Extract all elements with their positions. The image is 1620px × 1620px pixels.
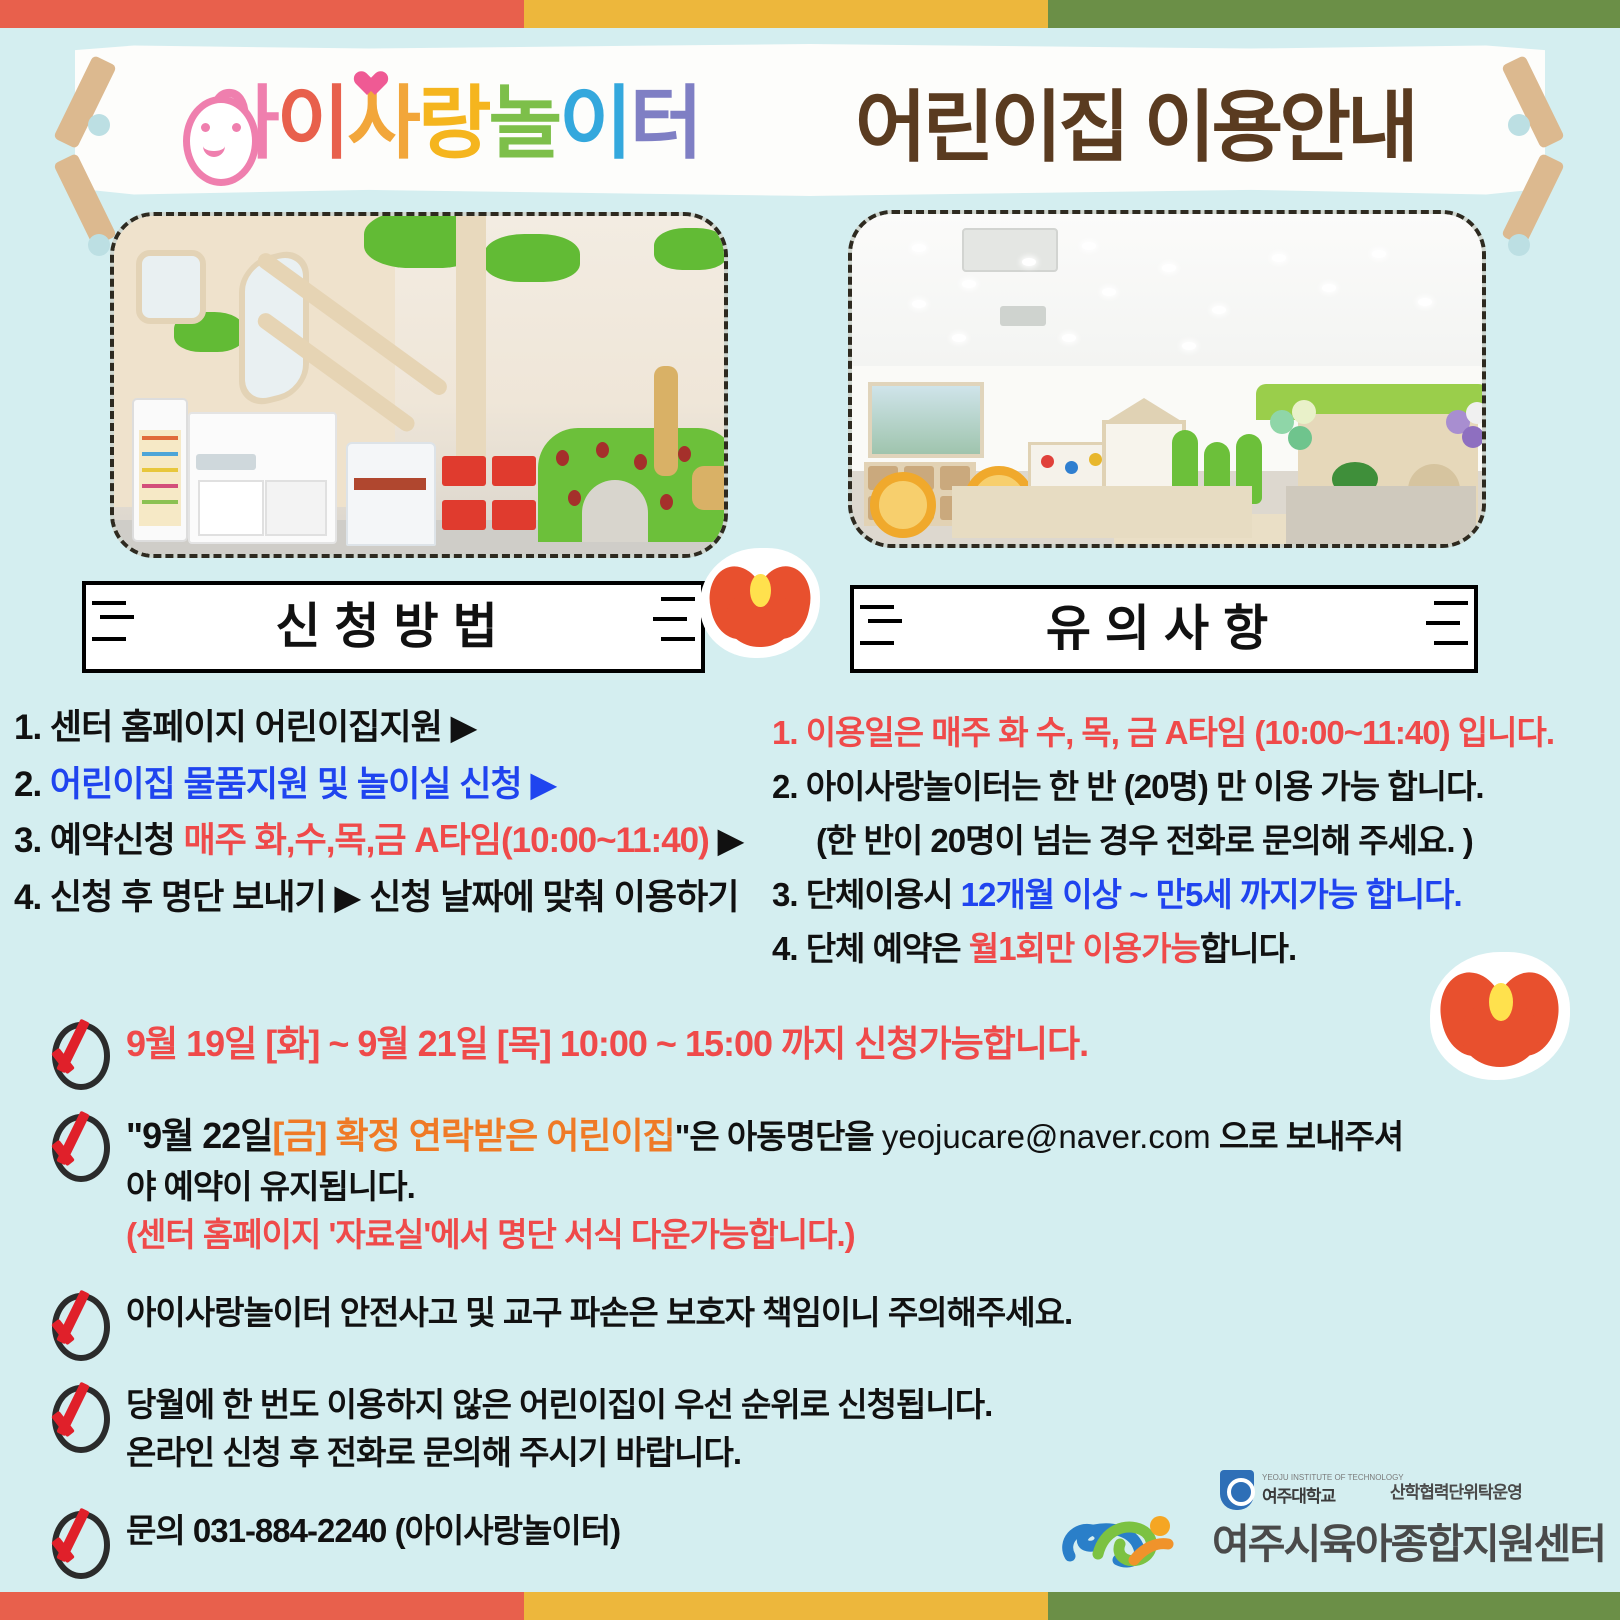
text-fragment: "은 아동명단을 bbox=[675, 1118, 882, 1155]
checklist-text: 9월 19일 [화] ~ 9월 21일 [목] 10:00 ~ 15:00 까지… bbox=[126, 1018, 1600, 1071]
banner-area: 아이사랑놀이터 어린이집 이용안내 bbox=[0, 28, 1620, 213]
text-fragment: 으로 보내주셔 bbox=[1211, 1118, 1404, 1155]
checklist-line: 9월 19일 [화] ~ 9월 21일 [목] 10:00 ~ 15:00 까지… bbox=[126, 1018, 1600, 1071]
step-number: 4. bbox=[14, 878, 41, 917]
partner-label: 산학협력단위탁운영 bbox=[1390, 1478, 1522, 1503]
notice-number: 3. bbox=[772, 876, 798, 913]
playground-logo: 아이사랑놀이터 bbox=[180, 84, 700, 164]
checklist-text: 아이사랑놀이터 안전사고 및 교구 파손은 보호자 책임이니 주의해주세요. bbox=[126, 1289, 1600, 1337]
text-fragment: 이용일은 매주 화 수, 목, 금 A타임 (10:00~11:40) 입니다. bbox=[798, 714, 1555, 751]
logo-char-nol: 놀 bbox=[488, 84, 559, 164]
banner-grommet bbox=[88, 234, 110, 256]
notice-item: 1. 이용일은 매주 화 수, 목, 금 A타임 (10:00~11:40) 입… bbox=[772, 706, 1620, 760]
check-mark-icon bbox=[40, 1289, 126, 1351]
photo-playroom-right bbox=[848, 210, 1486, 548]
text-fragment: 9월 19일 [화] ~ 9월 21일 [목] 10:00 ~ 15:00 까지… bbox=[126, 1023, 1088, 1064]
university-mark: YEOJU INSTITUTE OF TECHNOLOGY 여주대학교 bbox=[1220, 1470, 1404, 1510]
text-fragment: (센터 홈페이지 '자료실'에서 명단 서식 다운가능합니다.) bbox=[126, 1216, 855, 1253]
checklist-row: 당월에 한 번도 이용하지 않은 어린이집이 우선 순위로 신청됩니다.온라인 … bbox=[40, 1381, 1600, 1477]
banner-grommet bbox=[88, 114, 110, 136]
notice-number: 1. bbox=[772, 714, 798, 751]
text-fragment: 아이사랑놀이터 안전사고 및 교구 파손은 보호자 책임이니 주의해주세요. bbox=[126, 1294, 1072, 1331]
text-fragment: (한 반이 20명이 넘는 경우 전화로 문의해 주세요. ) bbox=[816, 822, 1473, 859]
notice-number: 2. bbox=[772, 768, 798, 805]
check-mark-icon bbox=[40, 1018, 126, 1080]
application-step: 3. 예약신청 매주 화,수,목,금 A타임(10:00~11:40) ▶ bbox=[14, 813, 774, 870]
check-mark-icon bbox=[40, 1507, 126, 1569]
text-fragment: 센터 홈페이지 어린이집지원 bbox=[41, 708, 442, 747]
heart-icon bbox=[360, 72, 388, 100]
text-fragment: "9월 22일 bbox=[126, 1115, 272, 1156]
banner-grommet bbox=[1508, 114, 1530, 136]
step-number: 1. bbox=[14, 708, 41, 747]
logo-char-rang: 랑 bbox=[418, 84, 489, 164]
photo-playroom-left bbox=[110, 212, 728, 558]
text-fragment: 매주 화,수,목,금 A타임(10:00~11:40) bbox=[183, 821, 708, 860]
checklist-line: "9월 22일[금] 확정 연락받은 어린이집"은 아동명단을 yeojucar… bbox=[126, 1110, 1600, 1163]
checklist-line: 당월에 한 번도 이용하지 않은 어린이집이 우선 순위로 신청됩니다. bbox=[126, 1381, 1600, 1429]
text-fragment: 온라인 신청 후 전화로 문의해 주시기 바랍니다. bbox=[126, 1434, 741, 1471]
logo-char-i: 이 bbox=[277, 84, 348, 164]
bar-segment-red bbox=[0, 0, 524, 28]
logo-char-i2: 이 bbox=[559, 84, 630, 164]
checklist-text: 당월에 한 번도 이용하지 않은 어린이집이 우선 순위로 신청됩니다.온라인 … bbox=[126, 1381, 1600, 1477]
bar-segment-green bbox=[1048, 1592, 1620, 1620]
text-fragment: 단체 예약은 bbox=[798, 930, 969, 967]
notice-item: 3. 단체이용시 12개월 이상 ~ 만5세 까지가능 합니다. bbox=[772, 868, 1620, 922]
text-fragment: 예약신청 bbox=[41, 821, 183, 860]
flower-decoration-icon bbox=[700, 548, 820, 658]
text-fragment: 어린이집 물품지원 및 놀이실 신청 bbox=[41, 765, 521, 804]
bar-segment-yellow bbox=[524, 0, 1048, 28]
checklist-row: 아이사랑놀이터 안전사고 및 교구 파손은 보호자 책임이니 주의해주세요. bbox=[40, 1289, 1600, 1351]
text-fragment: 신청 후 명단 보내기 ▶ 신청 날짜에 맞춰 이용하기 bbox=[41, 878, 738, 917]
notice-item: (한 반이 20명이 넘는 경우 전화로 문의해 주세요. ) bbox=[772, 814, 1620, 868]
checklist-line: 야 예약이 유지됩니다. bbox=[126, 1163, 1600, 1211]
footer-organization-logo: YEOJU INSTITUTE OF TECHNOLOGY 여주대학교 산학협력… bbox=[1060, 1468, 1600, 1578]
step-number: 3. bbox=[14, 821, 41, 860]
text-fragment: ▶ bbox=[522, 765, 557, 804]
step-number: 2. bbox=[14, 765, 41, 804]
text-fragment: yeojucare@naver.com bbox=[882, 1118, 1211, 1155]
flower-decoration-icon bbox=[1430, 952, 1570, 1080]
bottom-color-bar bbox=[0, 1592, 1620, 1620]
text-fragment: ▶ bbox=[709, 821, 744, 860]
check-mark-icon bbox=[40, 1110, 126, 1172]
bar-segment-red bbox=[0, 1592, 524, 1620]
section-header-notices: 유의사항 bbox=[850, 585, 1478, 673]
notice-number: 4. bbox=[772, 930, 798, 967]
university-name: 여주대학교 bbox=[1262, 1487, 1335, 1506]
top-color-bar bbox=[0, 0, 1620, 28]
checklist-row: "9월 22일[금] 확정 연락받은 어린이집"은 아동명단을 yeojucar… bbox=[40, 1110, 1600, 1259]
section-title-text: 유의사항 bbox=[1046, 605, 1282, 654]
notice-item: 2. 아이사랑놀이터는 한 반 (20명) 만 이용 가능 합니다. bbox=[772, 760, 1620, 814]
bar-segment-green bbox=[1048, 0, 1620, 28]
poster-page: 아이사랑놀이터 어린이집 이용안내 bbox=[0, 0, 1620, 1620]
banner-grommet bbox=[1508, 234, 1530, 256]
center-name: 여주시육아종합지원센터 bbox=[1212, 1510, 1605, 1570]
checklist-text: "9월 22일[금] 확정 연락받은 어린이집"은 아동명단을 yeojucar… bbox=[126, 1110, 1600, 1259]
notices-list: 1. 이용일은 매주 화 수, 목, 금 A타임 (10:00~11:40) 입… bbox=[772, 706, 1620, 977]
checklist-line: 아이사랑놀이터 안전사고 및 교구 파손은 보호자 책임이니 주의해주세요. bbox=[126, 1289, 1600, 1337]
smiley-face-icon bbox=[183, 96, 259, 186]
application-step: 4. 신청 후 명단 보내기 ▶ 신청 날짜에 맞춰 이용하기 bbox=[14, 870, 774, 927]
university-shield-icon bbox=[1220, 1470, 1254, 1510]
section-header-application-method: 신청방법 bbox=[82, 581, 705, 673]
text-fragment: 월1회만 이용가능 bbox=[969, 930, 1200, 967]
text-fragment: 아이사랑놀이터는 한 반 (20명) 만 이용 가능 합니다. bbox=[798, 768, 1484, 805]
text-fragment: 문의 031-884-2240 (아이사랑놀이터) bbox=[126, 1512, 620, 1549]
application-step: 1. 센터 홈페이지 어린이집지원 ▶ bbox=[14, 700, 774, 757]
check-mark-icon bbox=[40, 1381, 126, 1443]
section-title-text: 신청방법 bbox=[275, 603, 511, 652]
text-fragment: 합니다. bbox=[1200, 930, 1296, 967]
text-fragment: 12개월 이상 ~ 만5세 까지가능 합니다. bbox=[961, 876, 1462, 913]
university-subtitle: YEOJU INSTITUTE OF TECHNOLOGY bbox=[1262, 1473, 1404, 1482]
application-step: 2. 어린이집 물품지원 및 놀이실 신청 ▶ bbox=[14, 757, 774, 814]
checklist-line: (센터 홈페이지 '자료실'에서 명단 서식 다운가능합니다.) bbox=[126, 1211, 1600, 1259]
checklist-row: 9월 19일 [화] ~ 9월 21일 [목] 10:00 ~ 15:00 까지… bbox=[40, 1018, 1600, 1080]
text-fragment: ▶ bbox=[442, 708, 477, 747]
logo-char-teo: 터 bbox=[630, 84, 701, 164]
text-fragment: 당월에 한 번도 이용하지 않은 어린이집이 우선 순위로 신청됩니다. bbox=[126, 1386, 992, 1423]
text-fragment: 야 예약이 유지됩니다. bbox=[126, 1168, 415, 1205]
application-steps-list: 1. 센터 홈페이지 어린이집지원 ▶2. 어린이집 물품지원 및 놀이실 신청… bbox=[14, 700, 774, 927]
text-fragment: 단체이용시 bbox=[798, 876, 961, 913]
sci-swoosh-icon bbox=[1060, 1496, 1180, 1568]
page-title: 어린이집 이용안내 bbox=[855, 88, 1415, 166]
bar-segment-yellow bbox=[524, 1592, 1048, 1620]
text-fragment: [금] 확정 연락받은 어린이집 bbox=[272, 1115, 674, 1156]
